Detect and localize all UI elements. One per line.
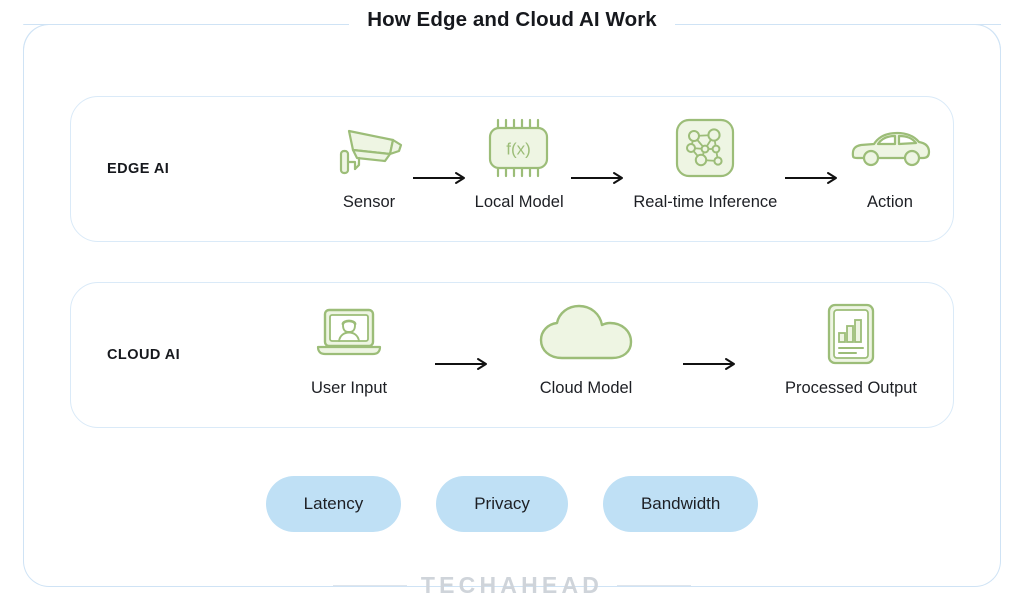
flow-label-user-input: User Input [311,379,387,398]
panel-edge-ai: EDGE AI Sensor [70,96,954,242]
arrow-icon-cloud-model-to-processed-output [636,331,785,397]
chip-fx-icon: f(x) [481,115,557,181]
cloud-icon [536,301,636,367]
panel-cloud-ai: CLOUD AI User Input [70,282,954,428]
arrow-icon-local-model-to-inference [564,145,634,211]
flow-node-user-input[interactable]: User Input [311,283,387,427]
flow-node-cloud-model[interactable]: Cloud Model [536,283,636,427]
flow-node-sensor[interactable]: Sensor [333,97,405,241]
flow-cloud-ai: User Input Cloud Model [311,283,917,427]
benefit-pill-row: Latency Privacy Bandwidth [0,476,1024,532]
page-title-text: How Edge and Cloud AI Work [349,8,675,31]
arrow-icon-inference-to-action [777,145,847,211]
footer-branding: TECHAHEAD [0,572,1024,599]
arrow-icon-user-input-to-cloud-model [387,331,536,397]
panel-label-edge-ai: EDGE AI [107,161,169,177]
page-title: How Edge and Cloud AI Work [0,8,1024,32]
flow-label-processed-output: Processed Output [785,379,917,398]
flow-node-action[interactable]: Action [847,97,933,241]
brand-wordmark: TECHAHEAD [421,572,603,599]
flow-label-sensor: Sensor [343,193,395,212]
flow-edge-ai: Sensor [333,97,933,241]
pill-latency-label: Latency [304,494,364,514]
pill-privacy[interactable]: Privacy [436,476,568,532]
arrow-icon-sensor-to-local-model [405,145,475,211]
infographic-root: How Edge and Cloud AI Work EDGE AI [0,0,1024,609]
pill-privacy-label: Privacy [474,494,530,514]
neural-network-icon [673,115,737,181]
flow-node-processed-output[interactable]: Processed Output [785,283,917,427]
flow-label-cloud-model: Cloud Model [540,379,633,398]
flow-label-local-model: Local Model [475,193,564,212]
flow-label-action: Action [867,193,913,212]
svg-text:f(x): f(x) [506,140,531,159]
pill-latency[interactable]: Latency [266,476,402,532]
flow-node-local-model[interactable]: f(x) Local Model [475,97,564,241]
cctv-camera-icon [333,115,405,181]
flow-label-real-time-inference: Real-time Inference [633,193,777,212]
panel-label-cloud-ai: CLOUD AI [107,347,180,363]
laptop-user-icon [313,301,385,367]
footer-rule-right [617,585,691,586]
pill-bandwidth[interactable]: Bandwidth [603,476,758,532]
footer-rule-left [333,585,407,586]
document-chart-icon [823,301,879,367]
flow-node-real-time-inference[interactable]: Real-time Inference [633,97,777,241]
pill-bandwidth-label: Bandwidth [641,494,720,514]
car-icon [847,115,933,181]
